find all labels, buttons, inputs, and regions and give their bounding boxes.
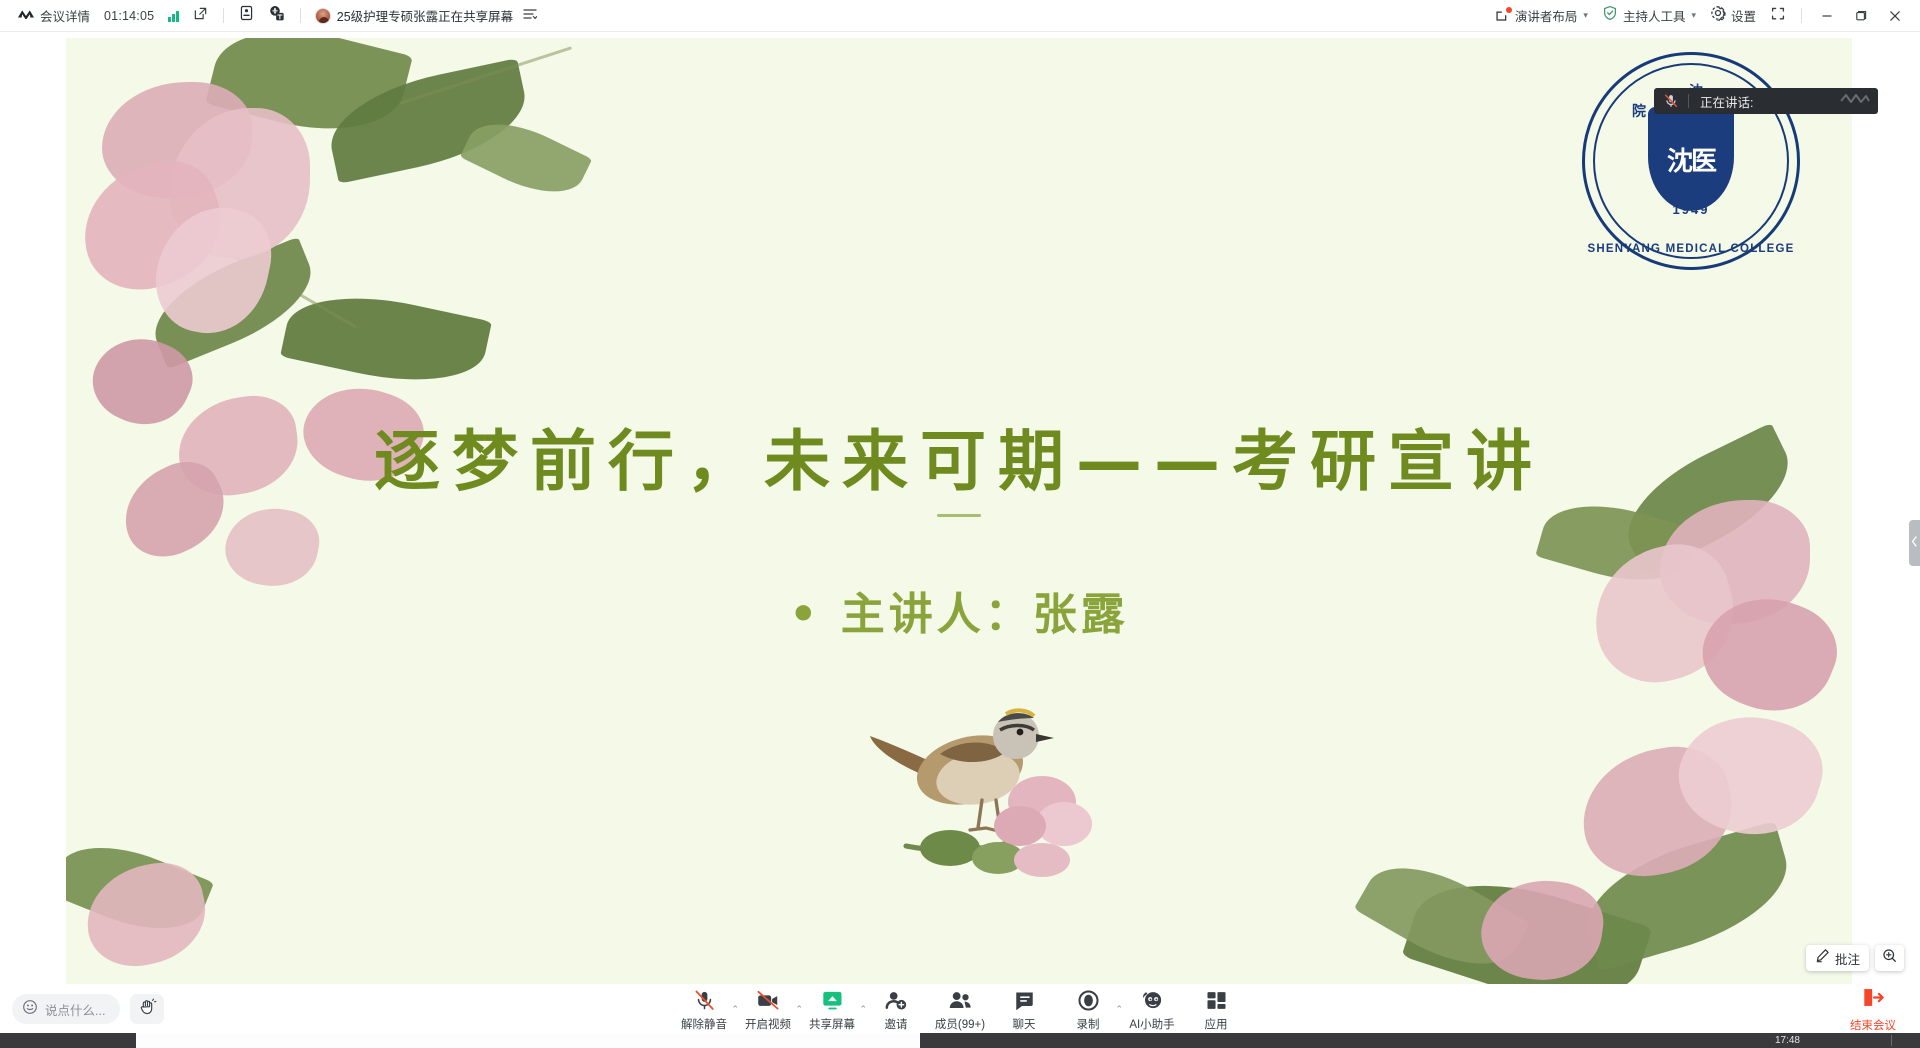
- record-label: 录制: [1077, 1016, 1100, 1032]
- apps-grid-icon: [1205, 989, 1228, 1013]
- shield-check-icon: [1602, 5, 1618, 26]
- mute-toggle-label: 解除静音: [681, 1016, 727, 1032]
- slide-title: 逐梦前行，未来可期——考研宣讲: [66, 408, 1852, 504]
- mic-muted-icon: [693, 989, 716, 1013]
- taskbar-window-strip: [136, 1033, 920, 1048]
- chevron-down-icon: ▾: [1691, 10, 1696, 21]
- record-button[interactable]: ⌃ 录制: [1056, 987, 1120, 1032]
- slide-subtitle: • 主讲人：张露: [66, 578, 1852, 642]
- toolbar-divider-2: [300, 8, 301, 23]
- top-toolbar: 会议详情 01:14:05: [0, 0, 1920, 32]
- participants-icon: [948, 989, 973, 1013]
- share-screen-button[interactable]: ⌃ 共享屏幕: [800, 987, 864, 1032]
- seal-english-text: SHENYANG MEDICAL COLLEGE: [1585, 243, 1797, 255]
- overlay-divider: [1688, 94, 1689, 108]
- chat-button[interactable]: 聊天: [992, 987, 1056, 1032]
- speaking-label: 正在讲话:: [1700, 92, 1753, 111]
- taskbar-divider: [1891, 1035, 1892, 1046]
- host-tools-label: 主持人工具: [1623, 6, 1686, 25]
- chat-bubble-icon: [1013, 989, 1036, 1013]
- speaker-layout-button[interactable]: 演讲者布局 ▾: [1488, 3, 1595, 29]
- apps-button[interactable]: 应用: [1184, 987, 1248, 1032]
- zoom-in-button[interactable]: [1875, 945, 1904, 971]
- invite-user-icon: [884, 989, 908, 1013]
- speaker-layout-label: 演讲者布局: [1515, 6, 1578, 25]
- exit-door-icon: [1861, 986, 1886, 1014]
- meeting-window: 会议详情 01:14:05: [0, 0, 1920, 1048]
- live-translation-icon: [268, 5, 285, 26]
- elapsed-time: 01:14:05: [104, 9, 154, 23]
- audio-wave-icon: [1840, 92, 1870, 110]
- mic-muted-icon: [1654, 93, 1688, 109]
- participants-label: 成员(99+): [935, 1016, 985, 1032]
- chevron-left-icon: [1911, 534, 1918, 552]
- host-tools-button[interactable]: 主持人工具 ▾: [1595, 3, 1703, 29]
- top-toolbar-right: 演讲者布局 ▾ 主持人工具 ▾ 设置: [1488, 0, 1920, 32]
- top-toolbar-left: 会议详情 01:14:05: [0, 0, 543, 32]
- meeting-details-label: 会议详情: [40, 6, 90, 25]
- fullscreen-button[interactable]: [1763, 3, 1793, 29]
- say-something-input[interactable]: 说点什么...: [12, 994, 120, 1024]
- tencent-meeting-logo-icon: [17, 7, 35, 25]
- participants-button[interactable]: 成员(99+): [928, 987, 992, 1032]
- network-signal-button[interactable]: [161, 3, 186, 29]
- annotation-toolbar: 批注: [1806, 945, 1904, 971]
- pen-annotate-icon: [1815, 948, 1830, 968]
- bird-illustration: [866, 678, 1106, 888]
- close-button[interactable]: [1878, 0, 1912, 32]
- end-meeting-label: 结束会议: [1850, 1017, 1896, 1033]
- say-something-placeholder: 说点什么...: [45, 1000, 105, 1019]
- shared-screen-stage: 沈 院 沈医 1949 SHENYANG MEDICAL COLLEGE 逐梦前…: [0, 32, 1920, 985]
- record-icon: [1077, 989, 1100, 1013]
- settings-button[interactable]: 设置: [1703, 3, 1763, 29]
- active-speaker-overlay: 正在讲话:: [1654, 88, 1878, 114]
- annotate-button[interactable]: 批注: [1806, 945, 1869, 971]
- pop-out-icon: [193, 6, 208, 26]
- share-screen-icon: [820, 989, 845, 1013]
- avatar: [315, 8, 331, 24]
- raise-hand-icon: [138, 997, 157, 1021]
- seal-year: 1949: [1673, 202, 1710, 217]
- sidebar-collapse-handle[interactable]: [1909, 520, 1920, 566]
- mute-toggle-button[interactable]: ⌃ 解除静音: [672, 987, 736, 1032]
- ai-assistant-icon: [1140, 989, 1165, 1013]
- popout-button[interactable]: [186, 3, 215, 29]
- chevron-down-icon: ▾: [1583, 10, 1588, 21]
- share-status-text: 25级护理专硕张露正在共享屏幕: [337, 6, 513, 25]
- end-meeting-button[interactable]: 结束会议: [1850, 986, 1896, 1033]
- apps-label: 应用: [1205, 1016, 1228, 1032]
- minimize-button[interactable]: [1810, 0, 1844, 32]
- meeting-timer: 01:14:05: [97, 3, 161, 29]
- settings-label: 设置: [1731, 6, 1756, 25]
- college-seal: 沈 院 沈医 1949 SHENYANG MEDICAL COLLEGE: [1582, 52, 1800, 270]
- raise-hand-button[interactable]: [130, 994, 164, 1024]
- seal-shield: 沈医: [1648, 107, 1734, 211]
- zoom-in-icon: [1882, 948, 1897, 968]
- ai-assistant-button[interactable]: AI小助手: [1120, 987, 1184, 1032]
- meeting-details-button[interactable]: 会议详情: [10, 3, 97, 29]
- bottom-toolbar-left: 说点什么...: [0, 994, 164, 1024]
- taskbar-clock: 17:48: [1775, 1033, 1800, 1048]
- list-menu-icon[interactable]: [523, 7, 537, 25]
- video-toggle-button[interactable]: ⌃ 开启视频: [736, 987, 800, 1032]
- maximize-button[interactable]: [1844, 0, 1878, 32]
- notification-dot: [1506, 7, 1512, 13]
- meeting-notes-icon: [239, 5, 254, 26]
- video-off-icon: [756, 989, 780, 1013]
- toolbar-divider-1: [223, 8, 224, 23]
- annotate-label: 批注: [1835, 949, 1860, 968]
- invite-button[interactable]: 邀请: [864, 987, 928, 1032]
- fullscreen-icon: [1770, 6, 1786, 26]
- bottom-toolbar-center: ⌃ 解除静音 ⌃ 开启视频: [672, 987, 1248, 1032]
- ai-assistant-label: AI小助手: [1129, 1016, 1174, 1032]
- live-translation-button[interactable]: [261, 3, 292, 29]
- bottom-toolbar-right: 结束会议: [1850, 986, 1920, 1033]
- share-status-banner[interactable]: 25级护理专硕张露正在共享屏幕: [309, 3, 543, 29]
- toolbar-divider-3: [1801, 8, 1802, 23]
- bottom-toolbar: 说点什么...: [0, 985, 1920, 1033]
- chat-label: 聊天: [1013, 1016, 1036, 1032]
- emoji-smile-icon: [22, 999, 38, 1020]
- meeting-notes-button[interactable]: [232, 3, 261, 29]
- title-rule: [937, 514, 981, 517]
- layout-icon: [1495, 8, 1510, 23]
- shared-slide[interactable]: 沈 院 沈医 1949 SHENYANG MEDICAL COLLEGE 逐梦前…: [66, 38, 1852, 984]
- share-screen-label: 共享屏幕: [809, 1016, 855, 1032]
- signal-bars-icon: [168, 10, 179, 22]
- invite-label: 邀请: [885, 1016, 908, 1032]
- video-toggle-label: 开启视频: [745, 1016, 791, 1032]
- gear-icon: [1710, 5, 1726, 26]
- os-taskbar: 17:48: [0, 1033, 1920, 1048]
